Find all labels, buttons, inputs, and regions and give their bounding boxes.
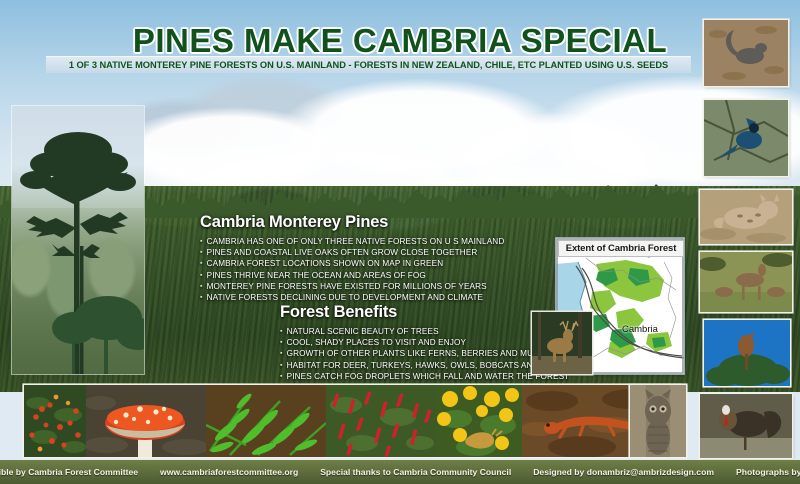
deer-photo-graphic (532, 312, 592, 374)
gray-squirrel-photo (704, 20, 788, 86)
pine-tree-icon (12, 106, 144, 374)
poster: PINES MAKE CAMBRIA SPECIAL 1 OF 3 NATIVE… (0, 0, 800, 484)
list-item: NATIVE FORESTS DECLINING DUE TO DEVELOPM… (200, 292, 504, 303)
list-item: MONTEREY PINE FORESTS HAVE EXISTED FOR M… (200, 281, 504, 292)
credit-item: Photographs by Brad Seek (725, 467, 800, 477)
credit-item[interactable]: Designed by donambriz@ambrizdesign.com (522, 467, 725, 477)
footer-credits: Made possible by Cambria Forest Committe… (0, 460, 800, 484)
amanita-mushroom-photo (86, 385, 206, 457)
buck-deer-photo (532, 312, 592, 374)
page-title: PINES MAKE CAMBRIA SPECIAL (0, 22, 800, 60)
deer-with-fawns-photo (700, 252, 792, 312)
section-cambria-monterey-pines: Cambria Monterey Pines CAMBRIA HAS ONE O… (200, 213, 504, 303)
list-item: PINES AND COASTAL LIVE OAKS OFTEN GROW C… (200, 247, 504, 258)
pine-tree-silhouette-panel (12, 106, 144, 374)
map-city-label: Cambria (622, 324, 658, 335)
bottom-photo-strip (24, 385, 680, 457)
wild-turkey-photo (700, 394, 792, 458)
section-heading: Cambria Monterey Pines (200, 213, 504, 232)
credit-item[interactable]: www.cambriaforestcommittee.org (149, 467, 309, 477)
list-item: CAMBRIA FOREST LOCATIONS SHOWN ON MAP IN… (200, 258, 504, 269)
fuchsia-flowers-photo (326, 385, 436, 457)
bobcat-photo (700, 190, 792, 244)
great-horned-owl-photo (630, 385, 686, 457)
subtitle-bar: 1 OF 3 NATIVE MONTEREY PINE FORESTS ON U… (46, 56, 691, 73)
sword-fern-photo (206, 385, 326, 457)
toyon-berries-photo (24, 385, 86, 457)
subtitle-text: 1 OF 3 NATIVE MONTEREY PINE FORESTS ON U… (69, 60, 668, 70)
yellow-flowers-banana-slug-photo (436, 385, 522, 457)
credit-item: Special thanks to Cambria Community Coun… (309, 467, 522, 477)
bullet-list: CAMBRIA HAS ONE OF ONLY THREE NATIVE FOR… (200, 236, 504, 303)
list-item: PINES THRIVE NEAR THE OCEAN AND AREAS OF… (200, 270, 504, 281)
credit-item: Made possible by Cambria Forest Committe… (0, 467, 149, 477)
map-title: Extent of Cambria Forest (558, 240, 684, 257)
red-tailed-hawk-photo (704, 320, 790, 386)
list-item: CAMBRIA HAS ONE OF ONLY THREE NATIVE FOR… (200, 236, 504, 247)
steller-jay-photo (704, 100, 788, 176)
